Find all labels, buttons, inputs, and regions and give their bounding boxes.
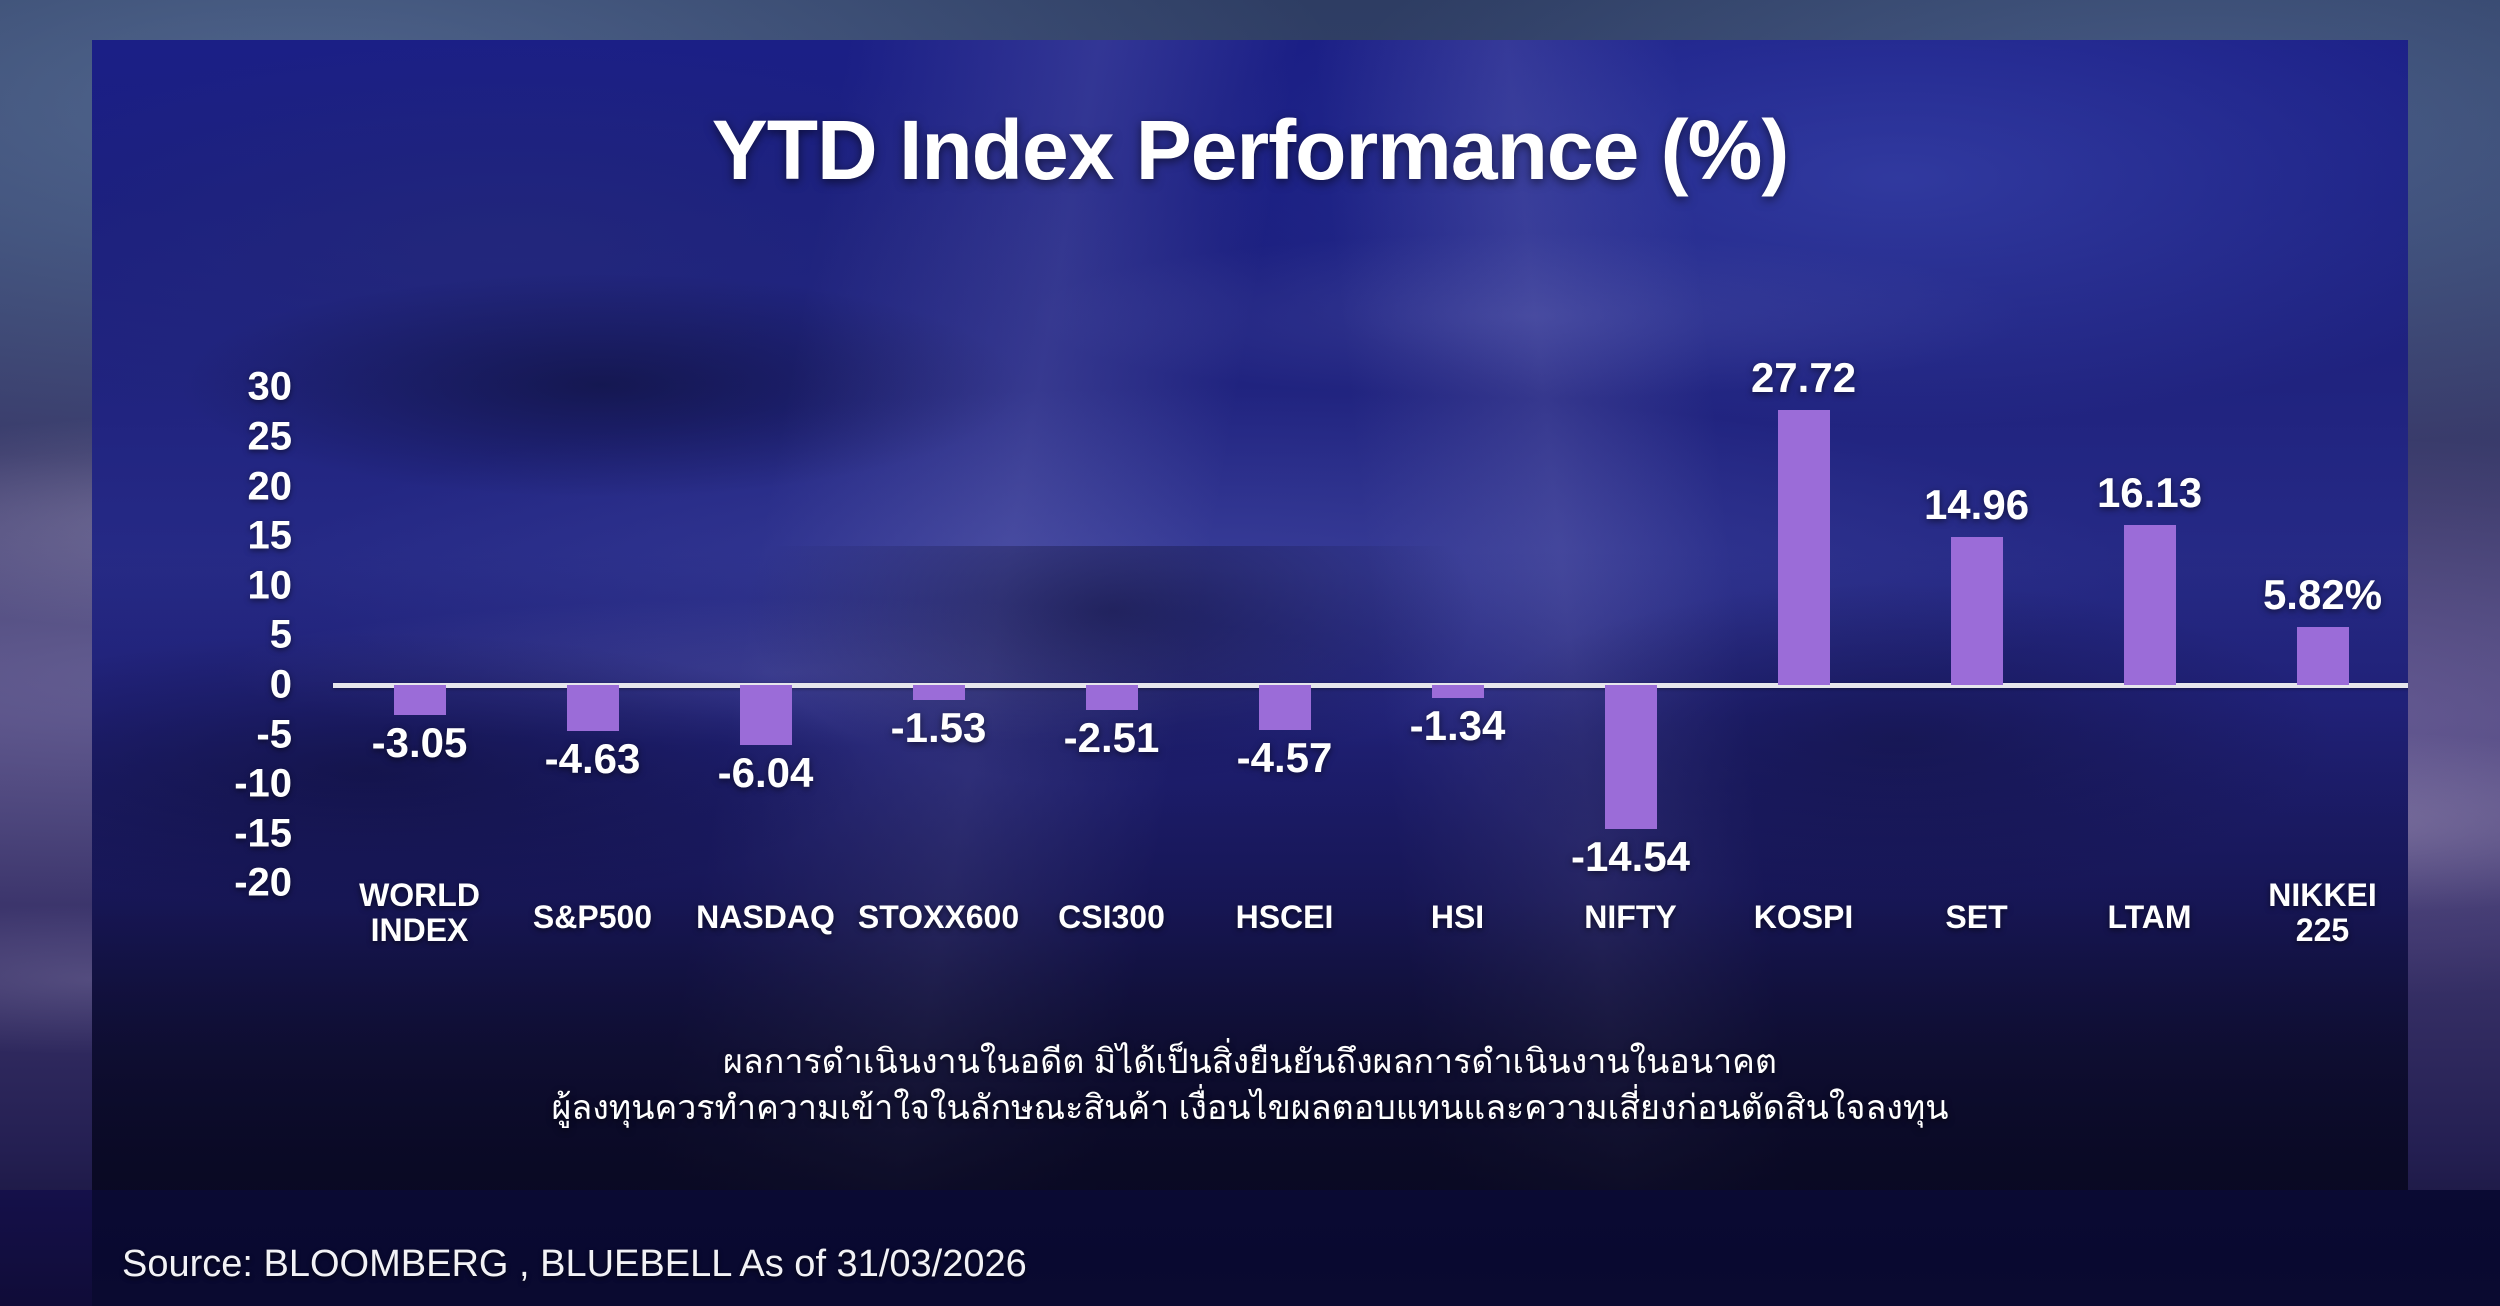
y-axis-tick: -5 — [172, 712, 292, 757]
bar[interactable] — [740, 685, 792, 745]
bar-value-label: -6.04 — [718, 749, 814, 797]
bar[interactable] — [1086, 685, 1138, 710]
disclaimer-line-2: ผู้ลงทุนควรทำความเข้าใจในลักษณะสินค้า เง… — [92, 1086, 2408, 1132]
chart-panel: YTD Index Performance (%) 302520151050-5… — [92, 40, 2408, 1190]
x-axis-category-label: HSCEI — [1185, 900, 1385, 935]
y-axis: 302520151050-5-10-15-20 — [122, 40, 292, 1190]
bar-value-label: -14.54 — [1571, 833, 1690, 881]
bar-value-label: 14.96 — [1924, 481, 2029, 529]
bar[interactable] — [1259, 685, 1311, 730]
bar-value-label: 16.13 — [2097, 469, 2202, 517]
x-axis-category-label: NIFTY — [1531, 900, 1731, 935]
y-axis-tick: 15 — [172, 514, 292, 559]
bar-value-label: -4.63 — [545, 735, 641, 783]
source-text: Source: BLOOMBERG , BLUEBELL As of 31/03… — [122, 1243, 1027, 1286]
y-axis-tick: 5 — [172, 613, 292, 658]
bar-value-label: -1.34 — [1410, 702, 1506, 750]
y-axis-tick: 0 — [172, 663, 292, 708]
bar[interactable] — [1778, 410, 1830, 685]
bar[interactable] — [1605, 685, 1657, 829]
bar[interactable] — [1951, 537, 2003, 685]
x-axis-category-label: LTAM — [2050, 900, 2250, 935]
y-axis-tick: 30 — [172, 365, 292, 410]
bar[interactable] — [567, 685, 619, 731]
x-axis-category-label: STOXX600 — [839, 900, 1039, 935]
x-axis-category-label: NASDAQ — [666, 900, 866, 935]
bar[interactable] — [1432, 685, 1484, 698]
y-axis-tick: -10 — [172, 762, 292, 807]
bar[interactable] — [913, 685, 965, 700]
bar[interactable] — [2124, 525, 2176, 685]
x-axis-category-label: KOSPI — [1704, 900, 1904, 935]
bar-value-label: -3.05 — [372, 719, 468, 767]
x-axis-category-label: NIKKEI225 — [2223, 878, 2409, 947]
x-axis-category-label: CSI300 — [1012, 900, 1212, 935]
disclaimer-line-1: ผลการดำเนินงานในอดีต มิได้เป็นสิ่งยืนยัน… — [92, 1040, 2408, 1086]
y-axis-tick: -20 — [172, 861, 292, 906]
bar-value-label: -4.57 — [1237, 734, 1333, 782]
x-axis-category-label: HSI — [1358, 900, 1558, 935]
y-axis-tick: 10 — [172, 563, 292, 608]
y-axis-tick: 20 — [172, 464, 292, 509]
x-axis-category-label: SET — [1877, 900, 2077, 935]
x-axis-category-label: S&P500 — [493, 900, 693, 935]
disclaimer-text: ผลการดำเนินงานในอดีต มิได้เป็นสิ่งยืนยัน… — [92, 1040, 2408, 1131]
bar-value-label: 5.82% — [2263, 571, 2382, 619]
bar-value-label: -1.53 — [891, 704, 987, 752]
bar[interactable] — [394, 685, 446, 715]
y-axis-tick: 25 — [172, 415, 292, 460]
bar-value-label: -2.51 — [1064, 714, 1160, 762]
y-axis-tick: -15 — [172, 811, 292, 856]
plot-area: 302520151050-5-10-15-20 -3.05WORLDINDEX-… — [92, 40, 2408, 1190]
x-axis-category-label: WORLDINDEX — [320, 878, 520, 947]
zero-baseline — [333, 683, 2408, 688]
bar-value-label: 27.72 — [1751, 354, 1856, 402]
bar[interactable] — [2297, 627, 2349, 685]
